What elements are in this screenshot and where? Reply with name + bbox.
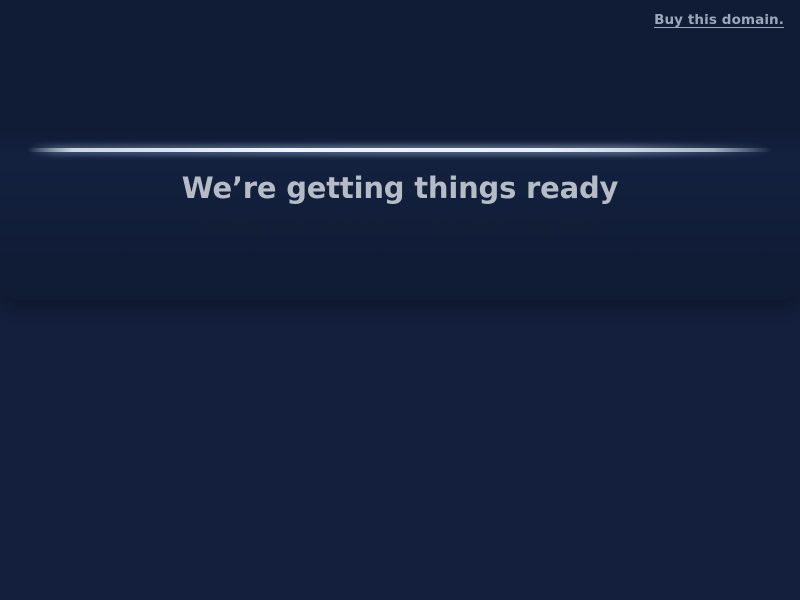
buy-this-domain-link[interactable]: Buy this domain.: [654, 12, 784, 28]
parking-card: Buy this domain. We’re getting things re…: [0, 0, 800, 300]
status-block: We’re getting things ready Loading your …: [0, 170, 800, 237]
status-title: We’re getting things ready: [0, 170, 800, 206]
loading-page: Buy this domain. We’re getting things re…: [0, 0, 800, 600]
progress-beam-core: [28, 148, 772, 152]
progress-beam: [28, 140, 772, 160]
progress-beam-shadow: [28, 152, 772, 155]
promo-bar: Buy this domain.: [0, 0, 800, 40]
status-subtitle: Loading your experience… This won’t take…: [0, 215, 800, 237]
